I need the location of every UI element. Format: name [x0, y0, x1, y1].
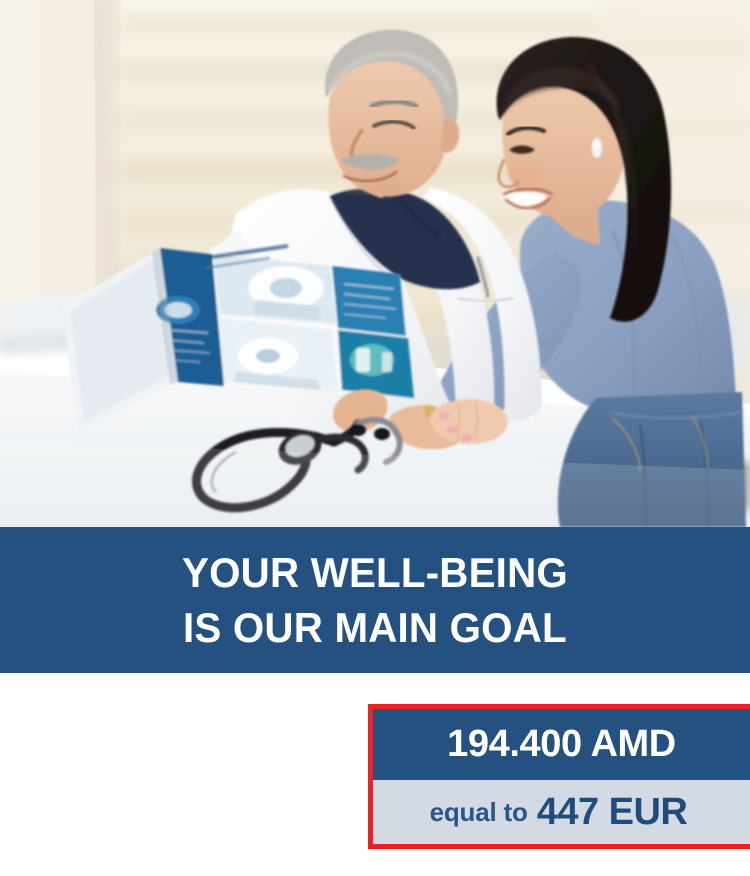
photo-illustration: [0, 0, 750, 527]
headline-line-1: YOUR WELL-BEING: [182, 545, 568, 600]
clinic-consultation-photo: [0, 0, 750, 527]
headline-line-2: IS OUR MAIN GOAL: [183, 600, 567, 655]
price-box-inner: 194.400 AMD equal to 447 EUR: [373, 709, 750, 844]
headline-banner: YOUR WELL-BEING IS OUR MAIN GOAL: [0, 527, 750, 673]
price-amd-value: 194.400 AMD: [447, 723, 676, 766]
price-eur-row: equal to 447 EUR: [373, 780, 750, 844]
price-box: 194.400 AMD equal to 447 EUR: [368, 704, 750, 849]
promo-banner-page: YOUR WELL-BEING IS OUR MAIN GOAL 194.400…: [0, 0, 750, 876]
price-eur-prefix: equal to: [430, 797, 528, 828]
price-amd-row: 194.400 AMD: [373, 709, 750, 780]
price-eur-value: 447 EUR: [537, 791, 688, 834]
